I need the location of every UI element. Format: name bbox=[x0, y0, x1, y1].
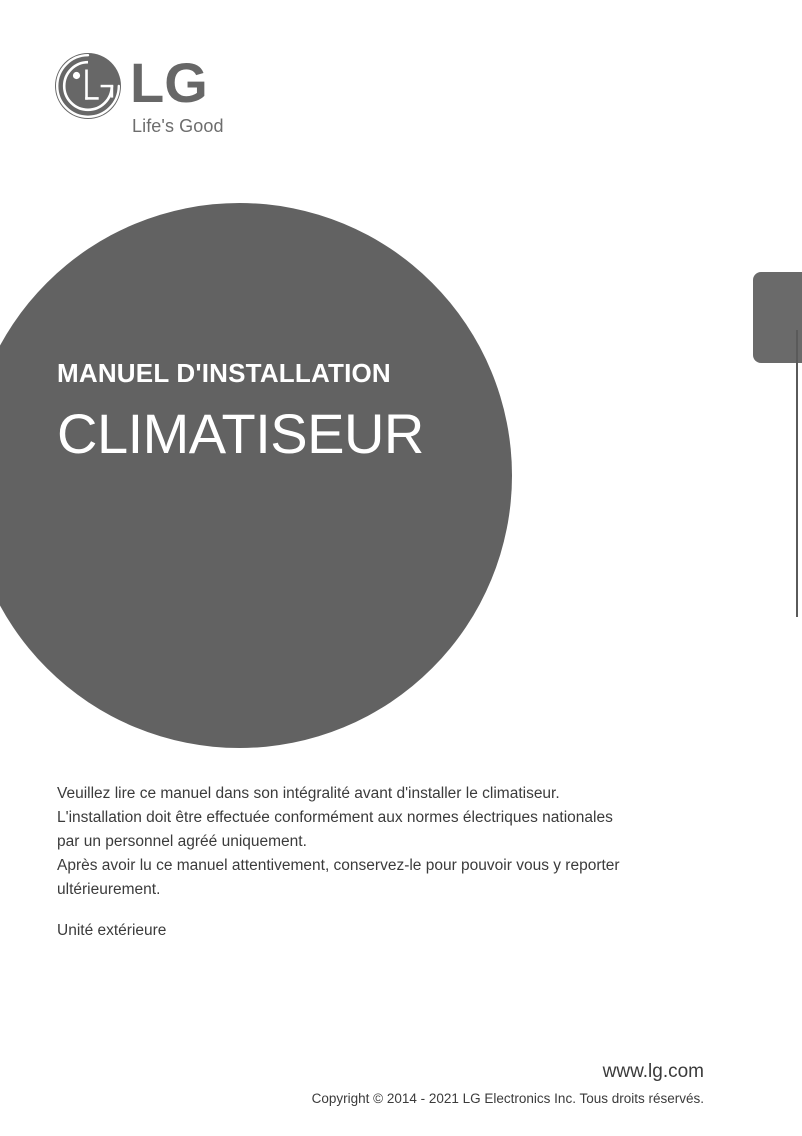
lg-logo: LG Life's Good bbox=[52, 48, 282, 148]
copyright-notice: Copyright © 2014 - 2021 LG Electronics I… bbox=[312, 1089, 704, 1109]
intro-line-5: ultérieurement. bbox=[57, 878, 717, 902]
manual-type-label: MANUEL D'INSTALLATION bbox=[57, 356, 517, 390]
hero-text-group: MANUEL D'INSTALLATION CLIMATISEUR bbox=[57, 356, 517, 472]
product-title: CLIMATISEUR bbox=[57, 396, 517, 472]
intro-paragraph: Veuillez lire ce manuel dans son intégra… bbox=[57, 782, 717, 902]
language-tab-francais[interactable]: FRANÇAIS bbox=[753, 272, 802, 363]
lg-logo-icon bbox=[52, 50, 124, 122]
lg-tagline: Life's Good bbox=[132, 116, 224, 137]
website-url[interactable]: www.lg.com bbox=[603, 1060, 704, 1084]
intro-line-3: par un personnel agréé uniquement. bbox=[57, 830, 717, 854]
hero-circle bbox=[0, 203, 512, 748]
footer-url-block: www.lg.com bbox=[603, 1060, 704, 1084]
intro-line-1: Veuillez lire ce manuel dans son intégra… bbox=[57, 782, 717, 806]
intro-line-2: L'installation doit être effectuée confo… bbox=[57, 806, 717, 830]
language-tab-rule bbox=[796, 330, 798, 617]
intro-line-4: Après avoir lu ce manuel attentivement, … bbox=[57, 854, 717, 878]
unit-type-label: Unité extérieure bbox=[57, 919, 166, 943]
lg-wordmark: LG bbox=[130, 52, 208, 114]
manual-cover-page: LG Life's Good MANUEL D'INSTALLATION CLI… bbox=[0, 0, 802, 1136]
